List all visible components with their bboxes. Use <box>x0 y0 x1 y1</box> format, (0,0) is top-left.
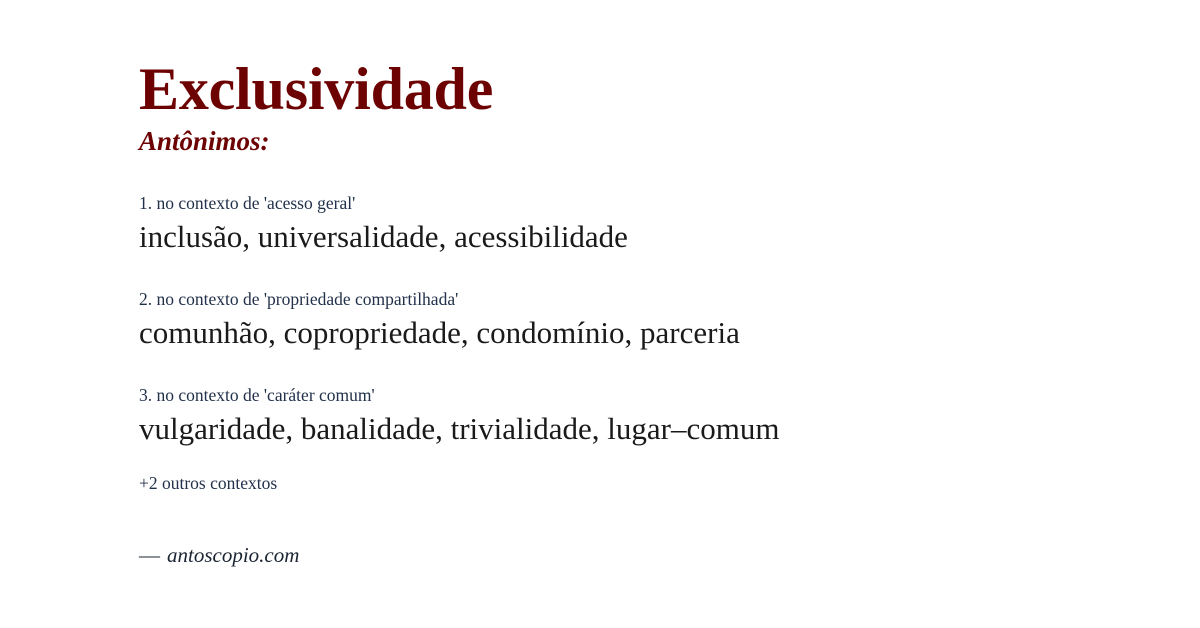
em-dash-icon: — <box>139 543 160 567</box>
antonym-entry: 1. no contexto de 'acesso geral' inclusã… <box>139 193 1200 257</box>
page-title: Exclusividade <box>139 58 1200 122</box>
card-footer: —antoscopio.com <box>139 543 1200 568</box>
entry-context-label: 3. no contexto de 'caráter comum' <box>139 385 1200 406</box>
antonym-entry-list: 1. no contexto de 'acesso geral' inclusã… <box>139 193 1200 448</box>
source-attribution: —antoscopio.com <box>139 543 1200 568</box>
antonym-entry: 3. no contexto de 'caráter comum' vulgar… <box>139 385 1200 449</box>
antonyms-card: Exclusividade Antônimos: 1. no contexto … <box>0 0 1200 628</box>
antonym-entry: 2. no contexto de 'propriedade compartil… <box>139 289 1200 353</box>
section-label-antonyms: Antônimos: <box>139 127 1200 157</box>
entry-terms: inclusão, universalidade, acessibilidade <box>139 218 1200 257</box>
entry-terms: vulgaridade, banalidade, trivialidade, l… <box>139 410 1200 449</box>
entry-terms: comunhão, copropriedade, condomínio, par… <box>139 314 1200 353</box>
more-contexts-note: +2 outros contextos <box>139 473 1200 494</box>
source-domain: antoscopio.com <box>167 543 299 567</box>
entry-context-label: 2. no contexto de 'propriedade compartil… <box>139 289 1200 310</box>
entry-context-label: 1. no contexto de 'acesso geral' <box>139 193 1200 214</box>
card-header: Exclusividade Antônimos: <box>139 0 1200 156</box>
